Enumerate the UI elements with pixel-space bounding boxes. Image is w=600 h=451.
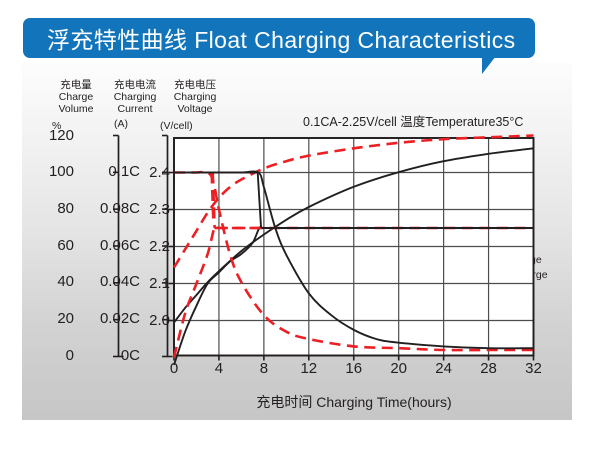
tick-label-time: 28 <box>475 360 503 377</box>
tick-label-volume: 120 <box>40 127 74 144</box>
tick-label-current: 0C <box>92 347 140 364</box>
tick-label-time: 12 <box>295 360 323 377</box>
tick-label-current: 0.06C <box>92 237 140 254</box>
tick-label-time: 20 <box>385 360 413 377</box>
tick-label-volume: 100 <box>40 163 74 180</box>
tick-label-time: 4 <box>205 360 233 377</box>
tick-label-time: 32 <box>520 360 548 377</box>
tick-label-volume: 40 <box>40 273 74 290</box>
tick-label-current: 0.02C <box>92 310 140 327</box>
tick-label-voltage: 2.3 <box>138 201 170 218</box>
tick-label-current: 0.08C <box>92 200 140 217</box>
tick-label-voltage: 2.4 <box>138 164 170 181</box>
tick-label-voltage: 2.0 <box>138 312 170 329</box>
chart-plot <box>0 0 600 451</box>
tick-label-voltage: 2.2 <box>138 238 170 255</box>
curve-voltage-spike-after50 <box>212 173 214 221</box>
tick-label-time: 0 <box>160 360 188 377</box>
tick-label-volume: 80 <box>40 200 74 217</box>
tick-label-current: 0.1C <box>92 163 140 180</box>
tick-label-current: 0.04C <box>92 273 140 290</box>
tick-label-volume: 0 <box>40 347 74 364</box>
tick-label-time: 16 <box>340 360 368 377</box>
tick-label-volume: 60 <box>40 237 74 254</box>
tick-label-time: 24 <box>430 360 458 377</box>
tick-label-voltage: 2.1 <box>138 275 170 292</box>
tick-label-volume: 20 <box>40 310 74 327</box>
tick-label-time: 8 <box>250 360 278 377</box>
